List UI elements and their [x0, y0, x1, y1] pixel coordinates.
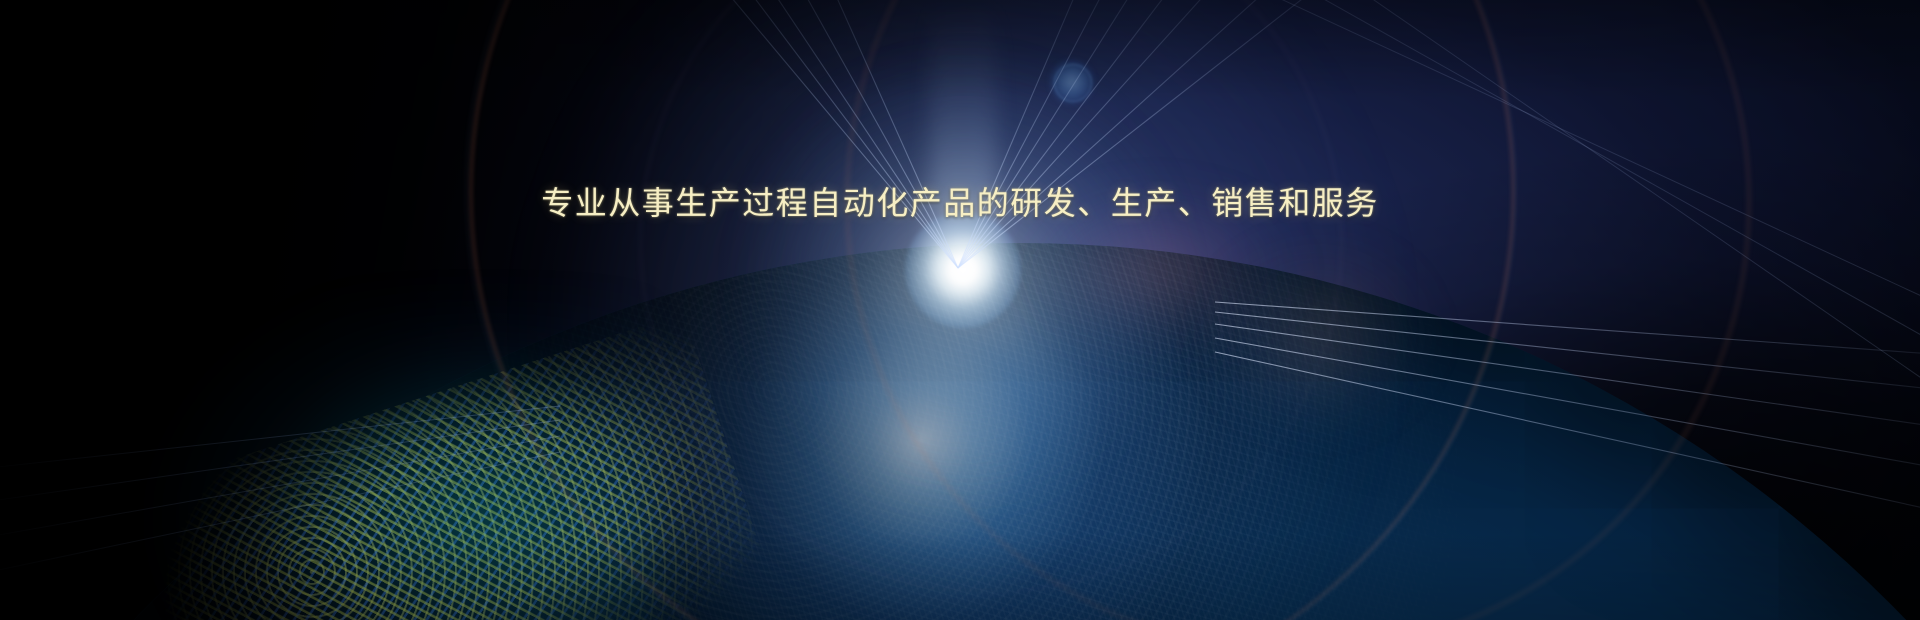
hero-headline: 专业从事生产过程自动化产品的研发、生产、销售和服务 [0, 183, 1920, 223]
lens-flare-haze-warm [1198, 236, 1438, 436]
hero-headline-text: 专业从事生产过程自动化产品的研发、生产、销售和服务 [541, 183, 1379, 223]
lens-flare-orb-ring [1054, 64, 1092, 102]
hero-banner: 专业从事生产过程自动化产品的研发、生产、销售和服务 [0, 0, 1920, 620]
